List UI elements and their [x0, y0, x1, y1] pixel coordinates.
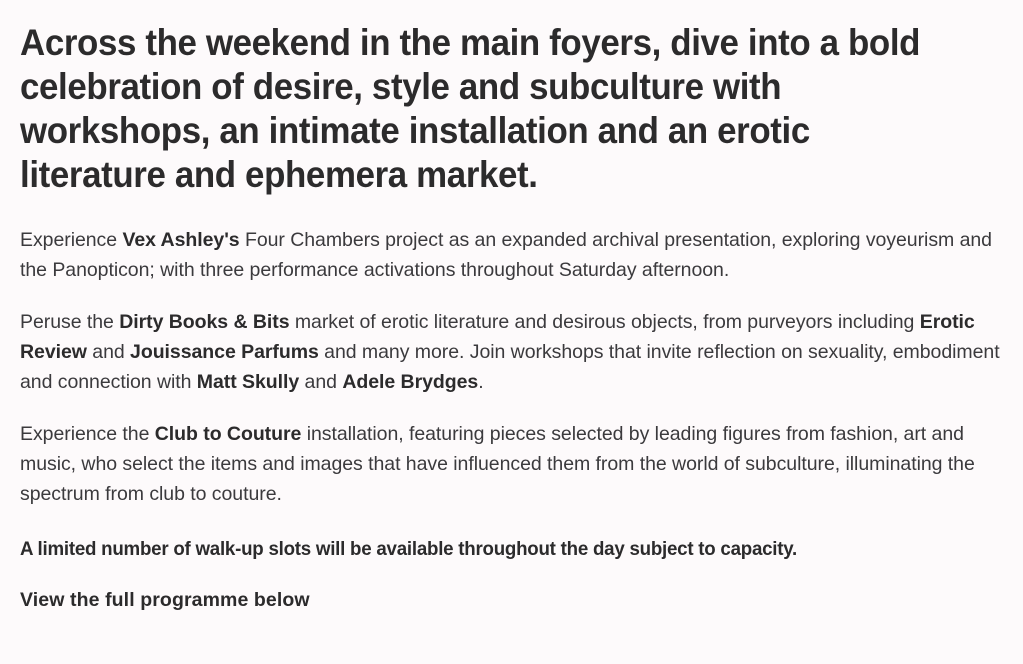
emphasis-text: Jouissance Parfums — [130, 341, 319, 363]
paragraph-four-chambers: Experience Vex Ashley's Four Chambers pr… — [20, 225, 1005, 285]
page-headline: Across the weekend in the main foyers, d… — [20, 16, 936, 196]
emphasis-text: Matt Skully — [197, 371, 299, 393]
emphasis-text: Vex Ashley's — [122, 229, 239, 251]
walk-up-capacity-note: A limited number of walk-up slots will b… — [20, 535, 966, 563]
body-text: Experience the — [20, 423, 155, 445]
emphasis-text: Adele Brydges — [342, 371, 478, 393]
body-text: Peruse the — [20, 311, 119, 333]
body-text: Experience — [20, 229, 122, 251]
paragraph-dirty-books-and-bits: Peruse the Dirty Books & Bits market of … — [20, 307, 1005, 397]
body-text: market of erotic literature and desirous… — [289, 311, 919, 333]
paragraph-club-to-couture: Experience the Club to Couture installat… — [20, 419, 1005, 509]
body-text: and — [87, 341, 130, 363]
body-copy: Experience Vex Ashley's Four Chambers pr… — [20, 225, 1005, 509]
body-text: and — [299, 371, 342, 393]
view-programme-label: View the full programme below — [20, 586, 1005, 614]
content-page: Across the weekend in the main foyers, d… — [0, 0, 1023, 664]
emphasis-text: Dirty Books & Bits — [119, 311, 289, 333]
emphasis-text: Club to Couture — [155, 423, 302, 445]
body-text: . — [478, 371, 483, 393]
